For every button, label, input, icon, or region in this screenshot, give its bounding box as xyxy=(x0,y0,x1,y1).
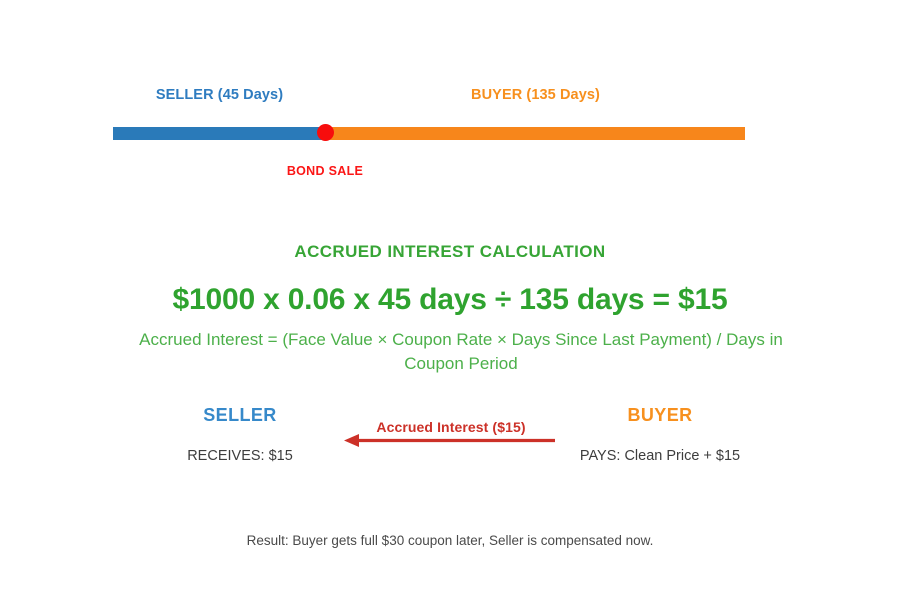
accrued-interest-flow-arrow-icon xyxy=(340,430,565,452)
seller-period-label: SELLER (45 Days) xyxy=(113,87,326,103)
seller-detail: RECEIVES: $15 xyxy=(150,448,330,464)
buyer-period-label: BUYER (135 Days) xyxy=(326,87,745,103)
accrued-interest-diagram: SELLER (45 Days) BUYER (135 Days) BOND S… xyxy=(0,0,900,600)
bond-sale-marker-icon xyxy=(317,124,334,141)
buyer-detail: PAYS: Clean Price + $15 xyxy=(570,448,750,464)
result-note: Result: Buyer gets full $30 coupon later… xyxy=(0,533,900,548)
buyer-block: BUYER PAYS: Clean Price + $15 xyxy=(570,405,750,464)
bond-sale-label: BOND SALE xyxy=(245,164,405,178)
calculation-heading: ACCRUED INTEREST CALCULATION xyxy=(0,242,900,262)
buyer-title: BUYER xyxy=(570,405,750,426)
calculation-description: Accrued Interest = (Face Value × Coupon … xyxy=(120,328,802,376)
timeline-bar xyxy=(113,127,745,140)
timeline-segment-seller xyxy=(113,127,325,140)
seller-block: SELLER RECEIVES: $15 xyxy=(150,405,330,464)
calculation-formula: $1000 x 0.06 x 45 days ÷ 135 days = $15 xyxy=(0,283,900,317)
seller-title: SELLER xyxy=(150,405,330,426)
timeline-segment-buyer xyxy=(325,127,745,140)
timeline-labels: SELLER (45 Days) BUYER (135 Days) xyxy=(113,87,745,111)
